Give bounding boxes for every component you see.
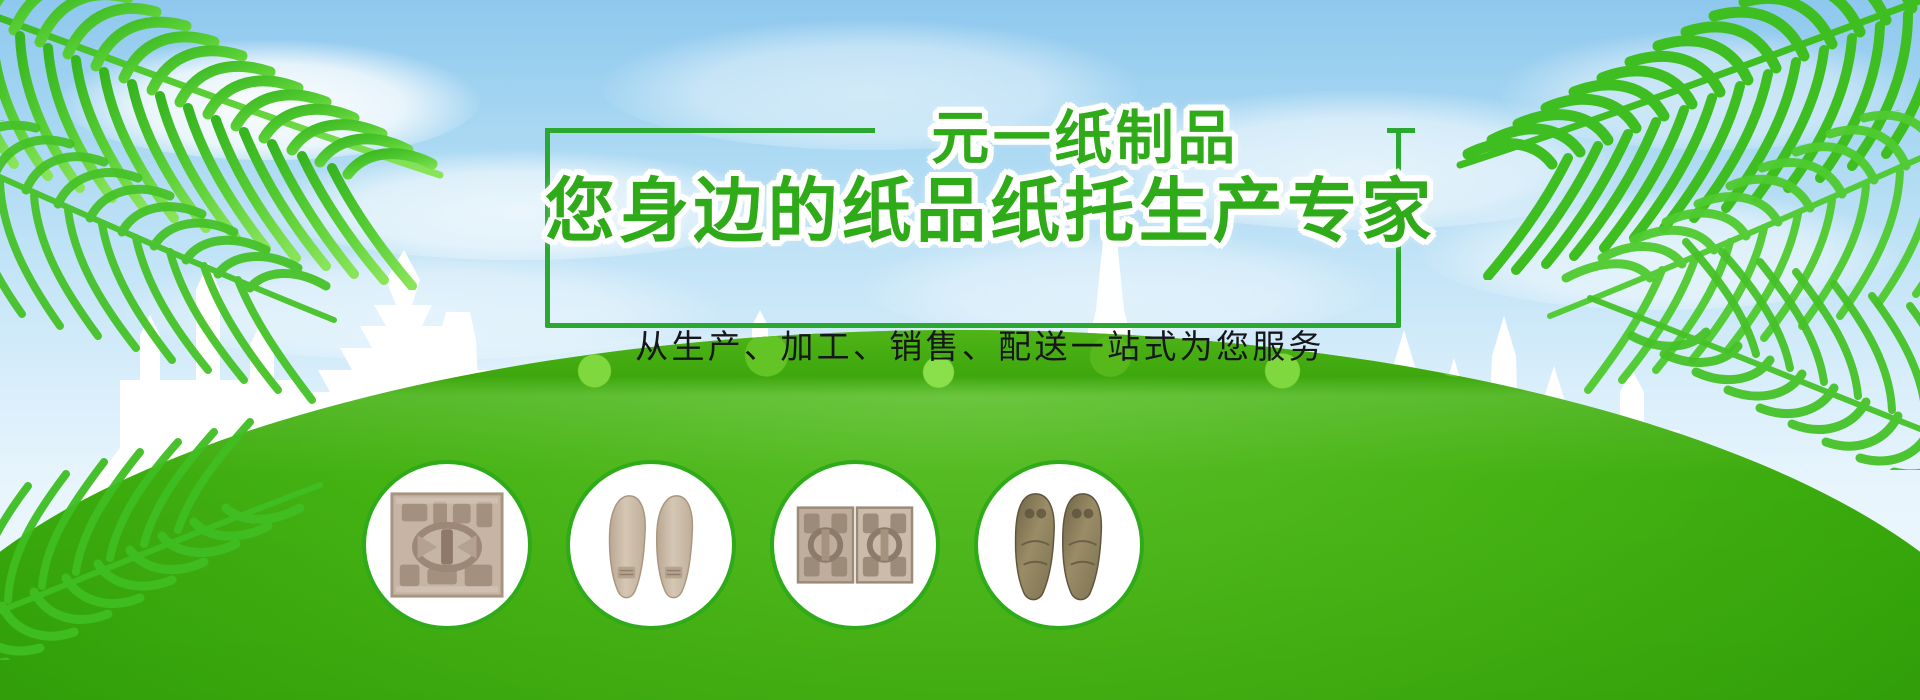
palm-frond-icon (0, 0, 460, 290)
paper-pulp-tray-square-image (388, 486, 506, 604)
product-circle-paper-pulp-tray-square[interactable] (362, 460, 532, 630)
subtitle-text: 从生产、加工、销售、配送一站式为您服务 (600, 320, 1360, 368)
brand-title: 元一纸制品 (545, 108, 1415, 170)
promo-banner: 元一纸制品 您身边的纸品纸托生产专家 从生产、加工、销售、配送一站式为您服务 (0, 0, 1920, 700)
product-circle-paper-pulp-shoe-tree[interactable] (566, 460, 736, 630)
cloud (1500, 30, 1920, 150)
product-circle-paper-pulp-tray-pair[interactable] (770, 460, 940, 630)
paper-pulp-shoe-insert-image (1000, 486, 1118, 604)
cloud (60, 40, 480, 160)
cloud (1420, 190, 1900, 310)
bush-rim (0, 330, 1920, 700)
product-circle-paper-pulp-shoe-insert[interactable] (974, 460, 1144, 630)
headline-block: 元一纸制品 您身边的纸品纸托生产专家 (545, 108, 1415, 250)
paper-pulp-tray-pair-image (796, 486, 914, 604)
palm-frond-icon (1440, 0, 1920, 280)
paper-pulp-shoe-tree-image (592, 486, 710, 604)
headline-text: 您身边的纸品纸托生产专家 (545, 172, 1415, 250)
